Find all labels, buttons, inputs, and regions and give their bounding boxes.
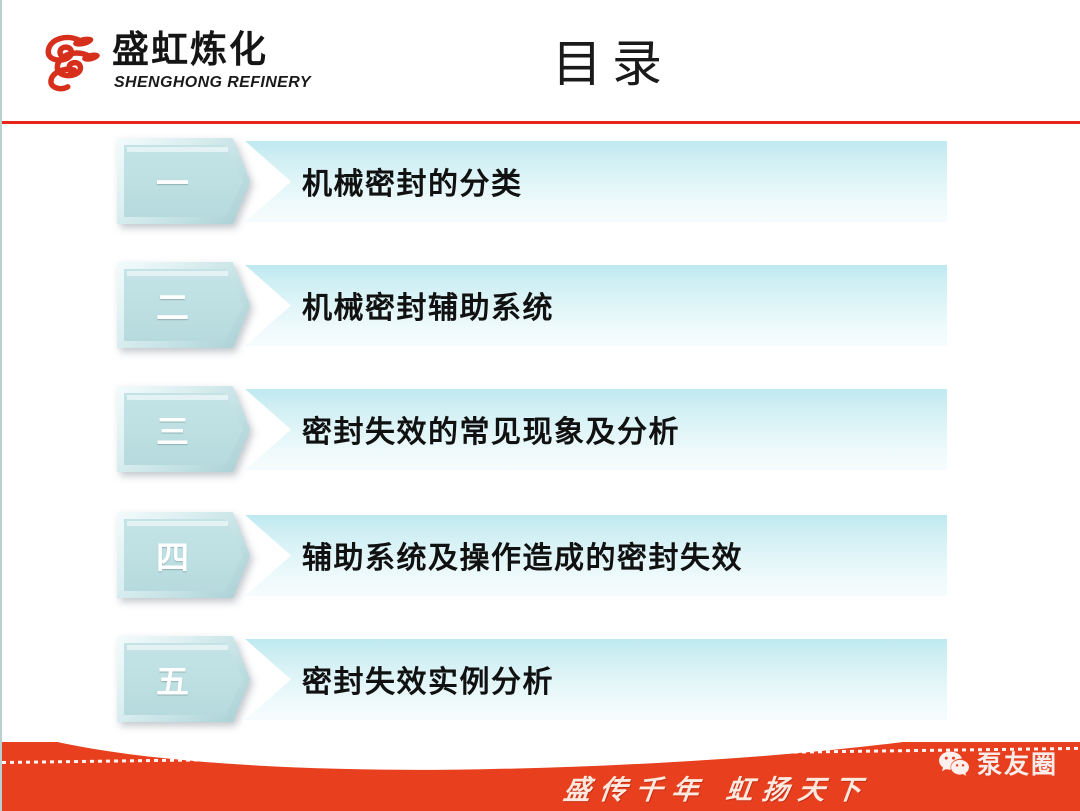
toc-number-plate: 五 [117,636,250,722]
toc-item-4[interactable]: 四 辅助系统及操作造成的密封失效 [2,512,1080,598]
toc-label: 辅助系统及操作造成的密封失效 [302,512,743,598]
company-logo: 盛虹炼化 SHENGHONG REFINERY [36,26,286,102]
toc-item-5[interactable]: 五 密封失效实例分析 [2,636,1080,722]
toc-number-plate: 三 [117,386,250,472]
toc-number: 四 [117,512,229,598]
slide-header: 盛虹炼化 SHENGHONG REFINERY 目录 [2,0,1080,124]
page-title: 目录 [402,34,822,94]
toc-number: 三 [117,386,229,472]
footer-slogan-text: 盛传千年 虹扬天下 [561,768,872,807]
toc-item-3[interactable]: 三 密封失效的常见现象及分析 [2,386,1080,472]
toc-number: 二 [117,262,229,348]
toc-number: 一 [117,138,229,224]
toc-list: 一 机械密封的分类 二 机械密封辅助系统 三 密封失效的常见现 [2,124,1080,744]
presentation-slide: 盛虹炼化 SHENGHONG REFINERY 目录 一 机械密封的分类 [0,0,1080,811]
toc-number: 五 [117,636,229,722]
slide-footer: 盛传千年 虹扬天下 [2,742,1080,811]
toc-label: 密封失效的常见现象及分析 [302,386,680,472]
toc-label: 机械密封辅助系统 [302,262,554,348]
toc-item-1[interactable]: 一 机械密封的分类 [2,138,1080,224]
wechat-icon [937,747,970,780]
toc-label: 机械密封的分类 [302,138,523,224]
footer-slogan: 盛传千年 虹扬天下 [2,768,1080,807]
wechat-watermark: 泵友圈 [937,745,1058,781]
toc-number-plate: 四 [117,512,250,598]
toc-number-plate: 二 [117,262,250,348]
toc-item-2[interactable]: 二 机械密封辅助系统 [2,262,1080,348]
toc-label: 密封失效实例分析 [302,636,554,722]
logo-english-name: SHENGHONG REFINERY [114,74,311,92]
logo-chinese-name: 盛虹炼化 [112,28,268,72]
shenghong-swirl-logo-icon [36,30,102,92]
watermark-label: 泵友圈 [977,745,1058,781]
toc-number-plate: 一 [117,138,250,224]
